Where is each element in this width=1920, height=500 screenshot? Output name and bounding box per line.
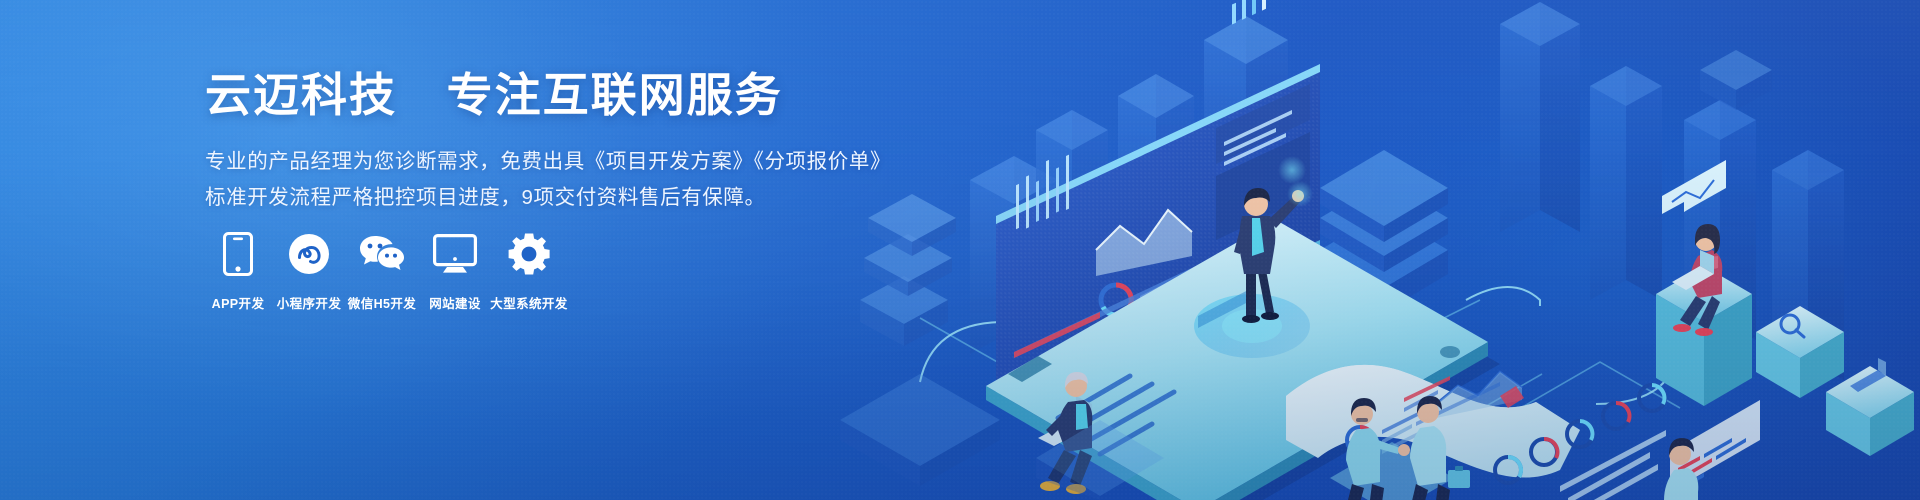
hero-illustration (800, 0, 1920, 500)
service-item-wechat-h5[interactable]: 微信H5开发 (345, 232, 419, 312)
mobile-phone-icon (223, 232, 253, 276)
hero-subtitle-line-1: 专业的产品经理为您诊断需求，免费出具《项目开发方案》《分项报价单》 (205, 144, 925, 180)
hero-subtitle-line-2: 标准开发流程严格把控项目进度，9项交付资料售后有保障。 (205, 180, 925, 216)
service-item-mini-program[interactable]: 小程序开发 (273, 232, 345, 312)
service-list: APP开发 小程序开发 微信 (203, 232, 567, 312)
hero-copy: 云迈科技 专注互联网服务 专业的产品经理为您诊断需求，免费出具《项目开发方案》《… (205, 68, 925, 216)
page-title: 云迈科技 专注互联网服务 (205, 68, 925, 122)
service-label: 网站建设 (429, 293, 481, 312)
service-item-app[interactable]: APP开发 (203, 232, 273, 312)
headline-tagline: 专注互联网服务 (447, 69, 783, 121)
wechat-icon (359, 232, 405, 276)
gear-icon (508, 232, 550, 276)
headline-brand: 云迈科技 (205, 69, 397, 121)
service-label: 大型系统开发 (490, 293, 567, 312)
service-item-website[interactable]: 网站建设 (419, 232, 491, 312)
mini-program-icon (288, 232, 330, 276)
service-label: 小程序开发 (277, 293, 342, 312)
donut-gauge-row (1495, 385, 1760, 500)
service-label: APP开发 (212, 293, 265, 312)
monitor-icon (433, 232, 477, 276)
homepage-hero-banner: 云迈科技 专注互联网服务 专业的产品经理为您诊断需求，免费出具《项目开发方案》《… (0, 0, 1920, 500)
service-label: 微信H5开发 (348, 293, 416, 312)
service-item-large-system[interactable]: 大型系统开发 (491, 232, 567, 312)
